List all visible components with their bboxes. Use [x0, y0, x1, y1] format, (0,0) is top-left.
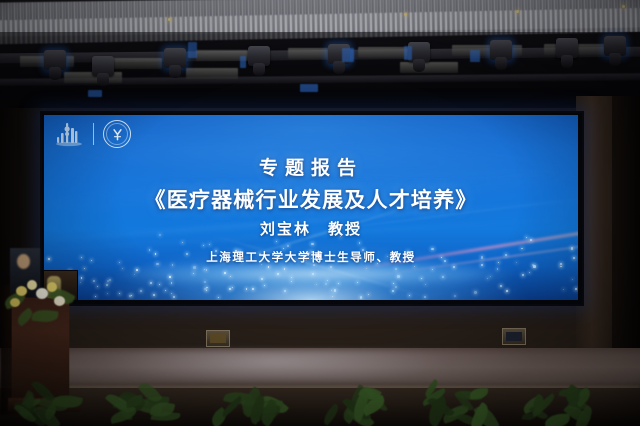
wall-right-shadow [612, 96, 640, 366]
potted-plant [204, 383, 282, 426]
plant-leaf [109, 407, 138, 424]
blue-light-fleck [470, 50, 480, 62]
rig-panel [400, 62, 458, 73]
blue-light-fleck [300, 84, 318, 92]
stage-spotlight [164, 48, 186, 68]
wall-outlet-slot [506, 332, 522, 341]
bouquet-flower [47, 282, 57, 292]
bouquet-flower [54, 296, 65, 306]
potted-plant [96, 382, 174, 426]
led-screen-bezel: 专题报告 《医疗器械行业发展及人才培养》 刘宝林 教授 上海理工大学大学博士生导… [40, 111, 584, 306]
rig-panel [186, 68, 238, 79]
blue-light-fleck [240, 56, 246, 68]
plant-leaf [545, 414, 570, 426]
blue-light-fleck [88, 90, 102, 97]
flower-arrangement [2, 272, 80, 326]
slide-kicker: 专题报告 [44, 153, 578, 180]
stage-spotlight [604, 36, 626, 56]
ceiling-lighting-truss [0, 0, 640, 116]
bouquet-leaf [31, 309, 58, 324]
slide-speaker: 刘宝林 教授 [44, 218, 578, 239]
led-screen-display: 专题报告 《医疗器械行业发展及人才培养》 刘宝林 教授 上海理工大学大学博士生导… [44, 115, 578, 300]
slide-title: 《医疗器械行业发展及人才培养》 [44, 184, 578, 214]
blue-light-fleck [188, 42, 197, 58]
slide-text-block: 专题报告 《医疗器械行业发展及人才培养》 刘宝林 教授 上海理工大学大学博士生导… [44, 115, 578, 300]
plant-leaf [320, 403, 341, 426]
slide-affiliation: 上海理工大学大学博士生导师、教授 [44, 249, 578, 265]
blue-light-fleck [404, 46, 412, 60]
stage-spotlight [556, 38, 578, 58]
bouquet-flower [28, 298, 37, 307]
plant-leaf [470, 388, 488, 399]
potted-plant [6, 383, 84, 426]
stage-spotlight [248, 46, 270, 66]
stage-spotlight [44, 50, 66, 70]
potted-plant [414, 383, 492, 426]
potted-plant [514, 384, 592, 426]
bouquet-flower [27, 280, 37, 290]
bouquet-flower [16, 286, 27, 296]
warm-light-dot [516, 10, 519, 13]
blue-light-fleck [342, 48, 354, 62]
stage-spotlight [490, 40, 512, 60]
stage-lit-area [40, 350, 560, 380]
potted-plant [311, 383, 389, 426]
bouquet-flower [36, 288, 48, 299]
warm-light-dot [622, 5, 625, 8]
wall-outlet-slot [210, 334, 226, 343]
auditorium-scene: 专题报告 《医疗器械行业发展及人才培养》 刘宝林 教授 上海理工大学大学博士生导… [0, 0, 640, 426]
warm-light-dot [404, 13, 407, 16]
stage-spotlight [92, 56, 114, 76]
warm-light-dot [168, 18, 171, 21]
wall-outlet-plate [502, 328, 526, 345]
wall-outlet-plate [206, 330, 230, 347]
bouquet-flower [10, 298, 20, 307]
